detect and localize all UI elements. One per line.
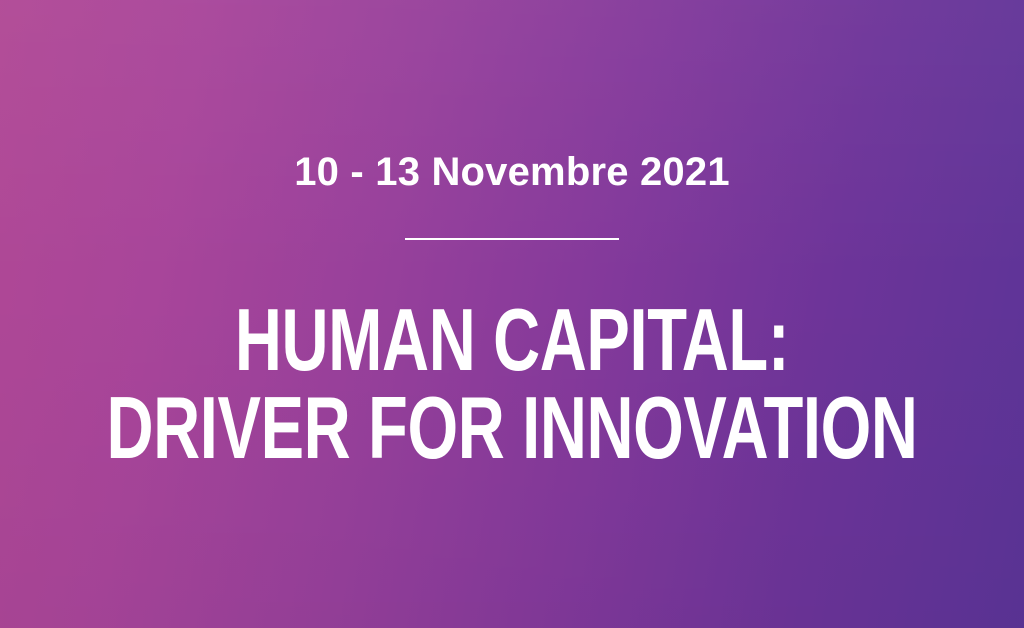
title-divider (405, 238, 619, 240)
banner-content: 10 - 13 Novembre 2021 HUMAN CAPITAL: DRI… (0, 0, 1024, 628)
event-banner: 10 - 13 Novembre 2021 HUMAN CAPITAL: DRI… (0, 0, 1024, 628)
event-title: HUMAN CAPITAL: DRIVER FOR INNOVATION (0, 298, 1024, 471)
event-title-line-2: DRIVER FOR INNOVATION (106, 386, 917, 470)
event-title-line-1: HUMAN CAPITAL: (106, 298, 917, 382)
event-date: 10 - 13 Novembre 2021 (294, 152, 730, 192)
